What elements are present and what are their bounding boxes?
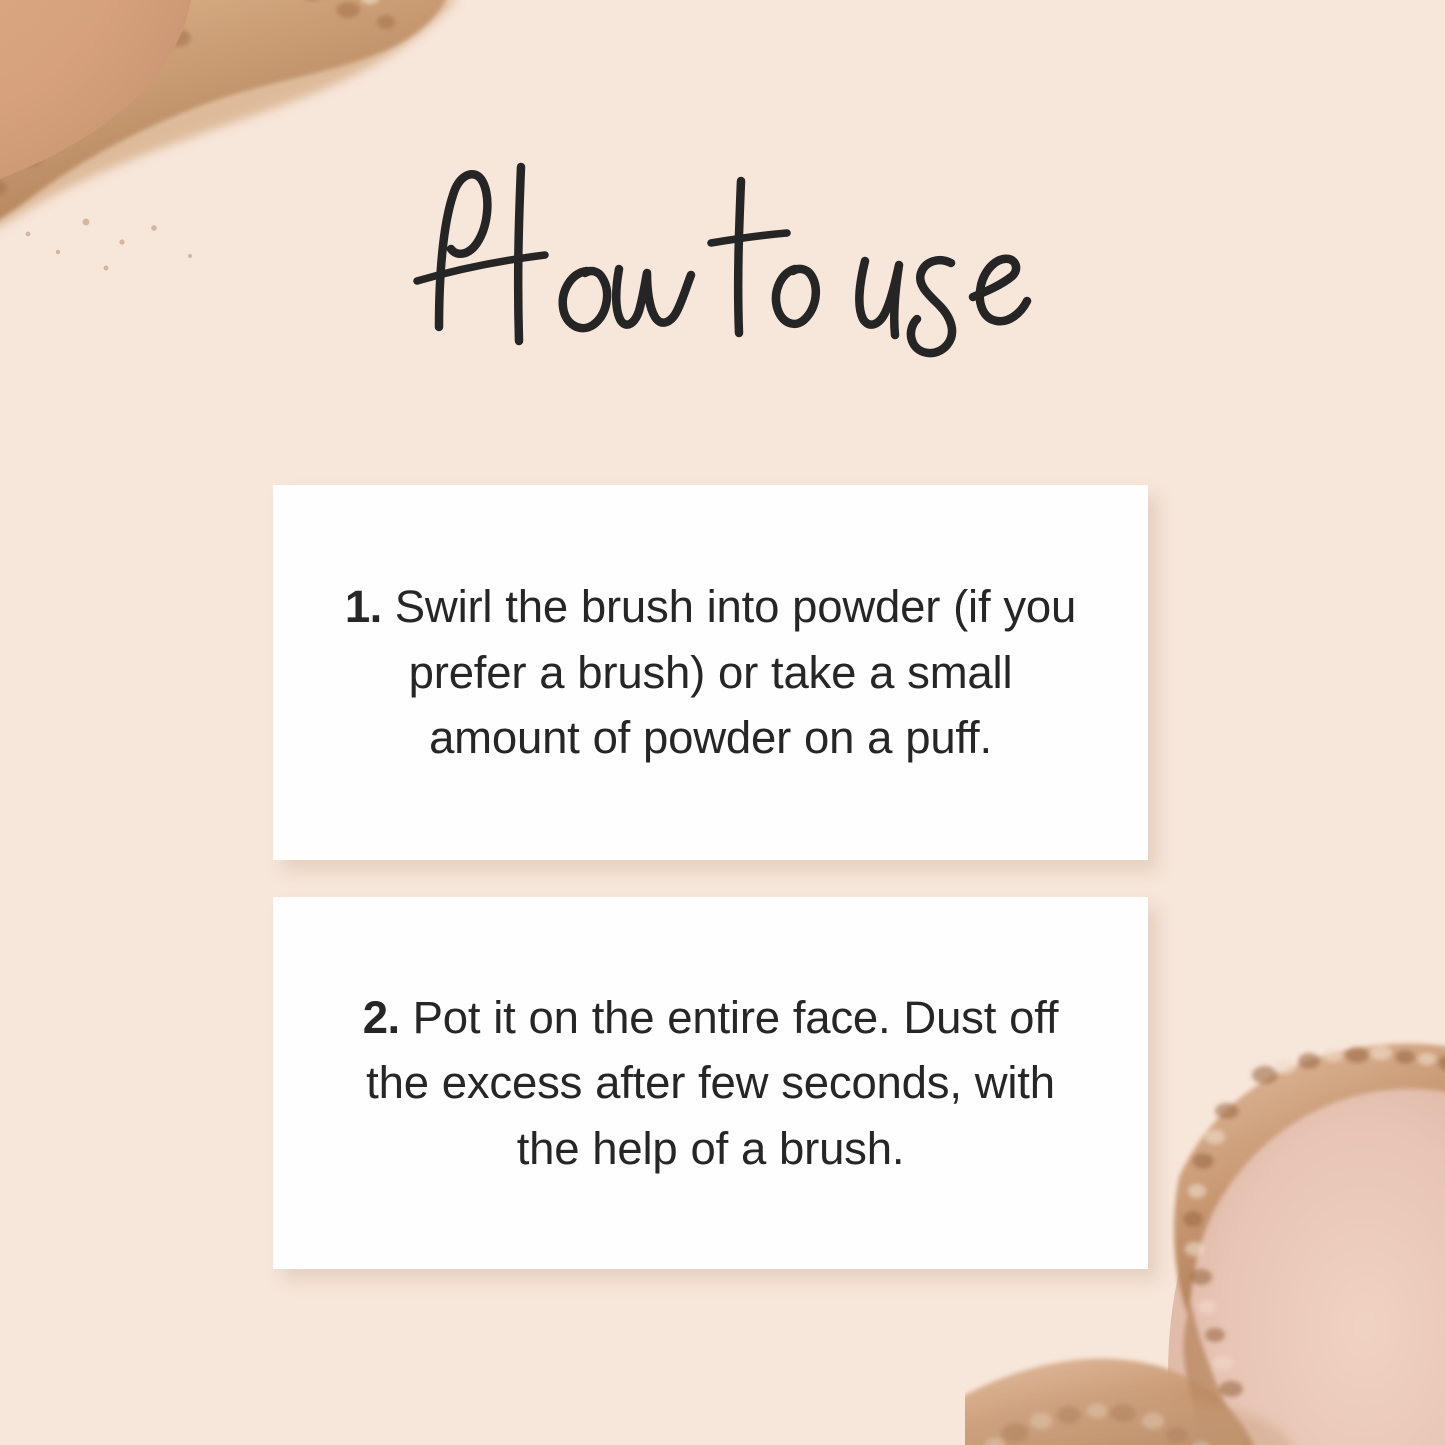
step-2-number: 2.	[363, 992, 400, 1043]
step-1-body: Swirl the brush into powder (if you pref…	[395, 581, 1076, 763]
steps-list: 1. Swirl the brush into powder (if you p…	[273, 485, 1148, 1269]
page-title: How to use	[0, 150, 1445, 410]
step-card-1: 1. Swirl the brush into powder (if you p…	[273, 485, 1148, 860]
step-card-2: 2. Pot it on the entire face. Dust off t…	[273, 897, 1148, 1269]
step-2-text: 2. Pot it on the entire face. Dust off t…	[331, 985, 1090, 1182]
page-title-script-icon: How to use	[373, 155, 1073, 405]
step-1-number: 1.	[345, 581, 382, 632]
step-1-text: 1. Swirl the brush into powder (if you p…	[331, 574, 1090, 771]
step-2-body: Pot it on the entire face. Dust off the …	[366, 992, 1058, 1174]
how-to-use-poster: How to use	[0, 0, 1445, 1445]
